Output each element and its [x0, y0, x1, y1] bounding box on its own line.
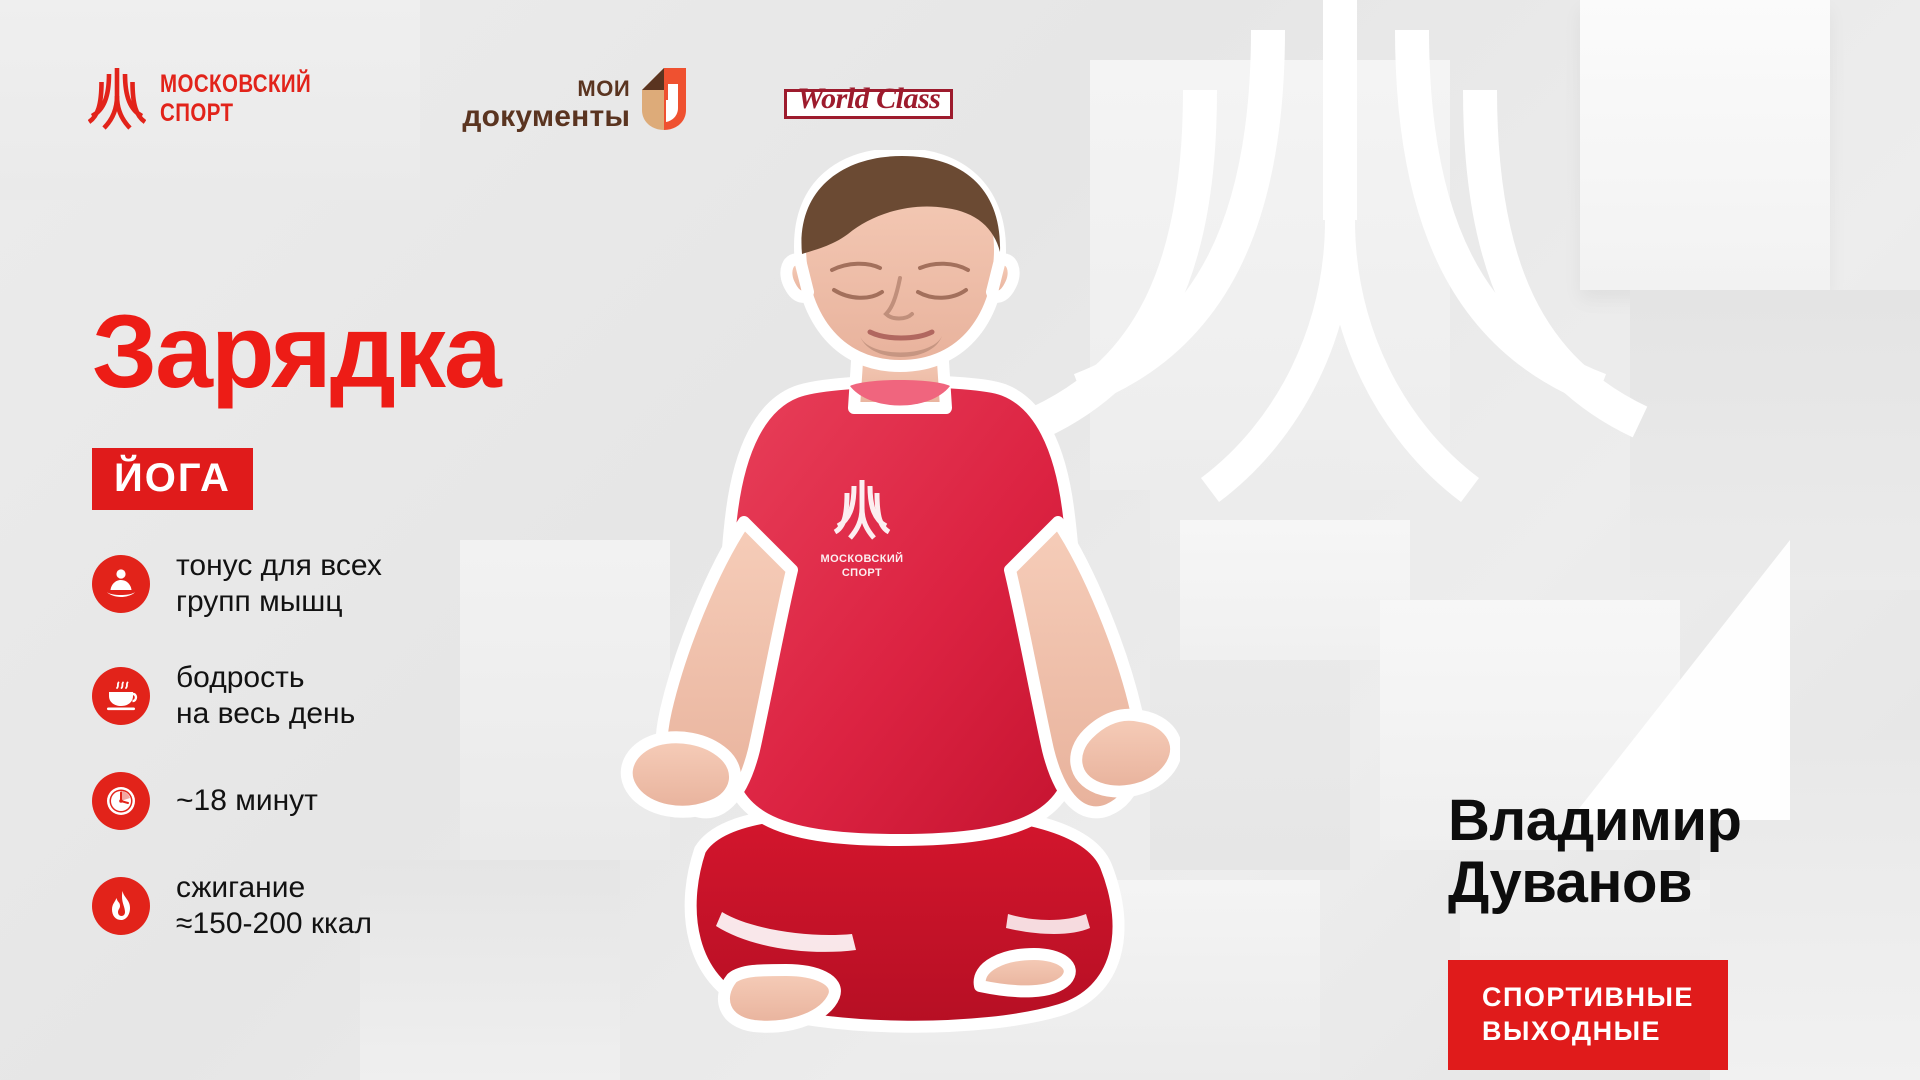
my-documents-line2: документы: [462, 102, 630, 132]
poster-root: МОСКОВСКИЙ СПОРТ МОИ документы World Cla…: [0, 0, 1920, 1080]
cta-badge[interactable]: СПОРТИВНЫЕ ВЫХОДНЫЕ: [1448, 960, 1728, 1070]
moscow-sport-wordmark: МОСКОВСКИЙ СПОРТ: [160, 72, 344, 126]
feature-text: ~18 минут: [176, 783, 318, 819]
my-documents-line1: МОИ: [577, 78, 630, 100]
instructor-photo: МОСКОВСКИЙ СПОРТ: [620, 150, 1180, 1080]
feature-text: бодрость на весь день: [176, 660, 355, 732]
feature-text: сжигание ≈150-200 ккал: [176, 870, 372, 942]
moscow-sport-arches-icon: [88, 66, 146, 132]
bg-plate: [1180, 520, 1410, 660]
lotus-pose-icon: [92, 555, 150, 613]
moscow-sport-line1: МОСКОВСКИЙ: [160, 72, 311, 97]
feature-item: тонус для всех групп мышц: [92, 548, 612, 620]
svg-text:СПОРТ: СПОРТ: [842, 567, 882, 579]
my-documents-shield-icon: [640, 66, 688, 132]
moscow-sport-line2: СПОРТ: [160, 101, 311, 126]
feature-item: ~18 минут: [92, 772, 612, 830]
page-title: Зарядка: [92, 300, 500, 404]
my-documents-wordmark: МОИ документы: [462, 78, 630, 132]
my-documents-logo: МОИ документы: [462, 66, 688, 132]
world-class-wordmark: World Class: [797, 82, 940, 115]
moscow-sport-logo: МОСКОВСКИЙ СПОРТ: [88, 66, 344, 132]
presenter-name: Владимир Дуванов: [1448, 790, 1741, 914]
world-class-logo: World Class: [784, 84, 953, 114]
coffee-cup-icon: [92, 667, 150, 725]
clock-icon: [92, 772, 150, 830]
feature-item: сжигание ≈150-200 ккал: [92, 870, 612, 942]
partner-logos: МОСКОВСКИЙ СПОРТ МОИ документы World Cla…: [88, 66, 953, 132]
world-class-frame: World Class: [784, 89, 953, 119]
flame-icon: [92, 877, 150, 935]
bg-triangle: [1570, 540, 1790, 820]
feature-text: тонус для всех групп мышц: [176, 548, 382, 620]
category-badge: ЙОГА: [92, 448, 253, 510]
feature-item: бодрость на весь день: [92, 660, 612, 732]
svg-text:МОСКОВСКИЙ: МОСКОВСКИЙ: [821, 552, 904, 565]
feature-list: тонус для всех групп мышц бодрость на ве…: [92, 548, 612, 942]
